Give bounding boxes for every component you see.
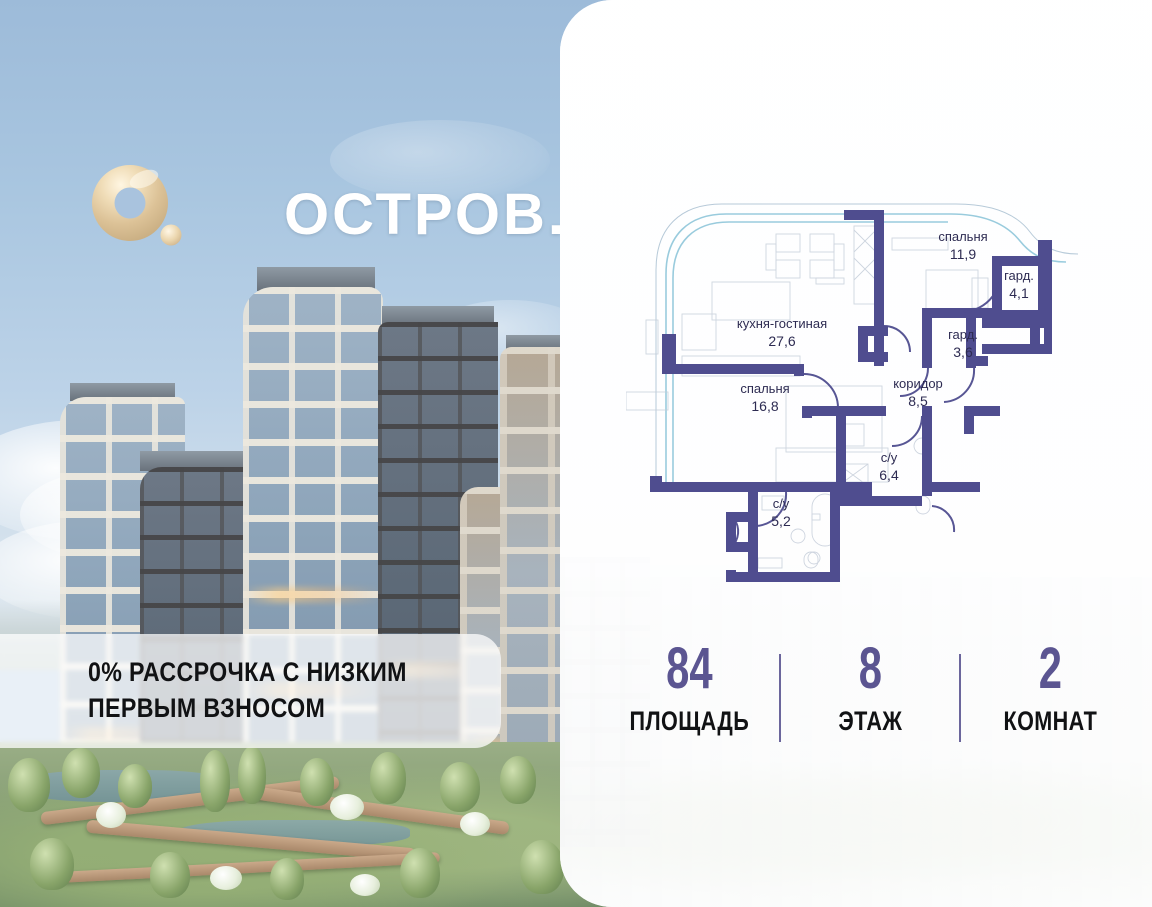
stat-area: 84 ПЛОЩАДЬ <box>600 640 779 736</box>
courtyard-landscape <box>0 742 620 907</box>
stat-rooms: 2 КОМНАТ <box>961 640 1140 736</box>
room-area: 6,4 <box>879 467 899 483</box>
room-area: 3,6 <box>953 344 973 360</box>
walls <box>650 210 1052 582</box>
stat-floor-value: 8 <box>806 640 935 698</box>
apartment-stats: 84 ПЛОЩАДЬ 8 ЭТАЖ 2 КОМНАТ <box>600 640 1140 750</box>
stat-rooms-value: 2 <box>986 640 1115 698</box>
furniture-layer <box>626 226 988 568</box>
room-area: 27,6 <box>768 333 795 349</box>
promo-creative: ОСТРОВ. <box>0 0 1152 907</box>
promo-text: 0% РАССРОЧКА С НИЗКИМ ПЕРВЫМ ВЗНОСОМ <box>88 654 432 726</box>
brand-name: ОСТРОВ. <box>284 181 567 248</box>
room-label: кухня-гостиная <box>737 316 827 331</box>
room-label: гард. <box>948 327 978 342</box>
promo-line-1: 0% РАССРОЧКА С НИЗКИМ <box>88 654 432 690</box>
room-area: 16,8 <box>751 398 778 414</box>
brand-logo: ОСТРОВ. <box>88 163 488 268</box>
room-label: коридор <box>893 376 943 391</box>
room-area: 11,9 <box>950 246 976 262</box>
stat-area-label: ПЛОЩАДЬ <box>618 706 761 736</box>
room-label: гард. <box>1004 268 1034 283</box>
room-label: спальня <box>938 229 987 244</box>
room-label: с/у <box>881 450 898 465</box>
stat-floor: 8 ЭТАЖ <box>781 640 960 736</box>
floor-plan[interactable]: кухня-гостиная 27,6 спальня 11,9 гард. 4… <box>626 196 1096 586</box>
stat-floor-label: ЭТАЖ <box>799 706 942 736</box>
room-label: спальня <box>740 381 789 396</box>
torus-ring-logo-icon <box>88 163 186 261</box>
stat-rooms-label: КОМНАТ <box>979 706 1122 736</box>
room-label: с/у <box>773 496 790 511</box>
room-area: 5,2 <box>771 513 791 529</box>
stat-area-value: 84 <box>625 640 754 698</box>
room-area: 8,5 <box>908 393 928 409</box>
promo-banner: 0% РАССРОЧКА С НИЗКИМ ПЕРВЫМ ВЗНОСОМ <box>0 634 501 748</box>
room-area: 4,1 <box>1009 285 1029 301</box>
promo-line-2: ПЕРВЫМ ВЗНОСОМ <box>88 690 432 726</box>
floor-plan-drawing: кухня-гостиная 27,6 спальня 11,9 гард. 4… <box>626 196 1096 586</box>
